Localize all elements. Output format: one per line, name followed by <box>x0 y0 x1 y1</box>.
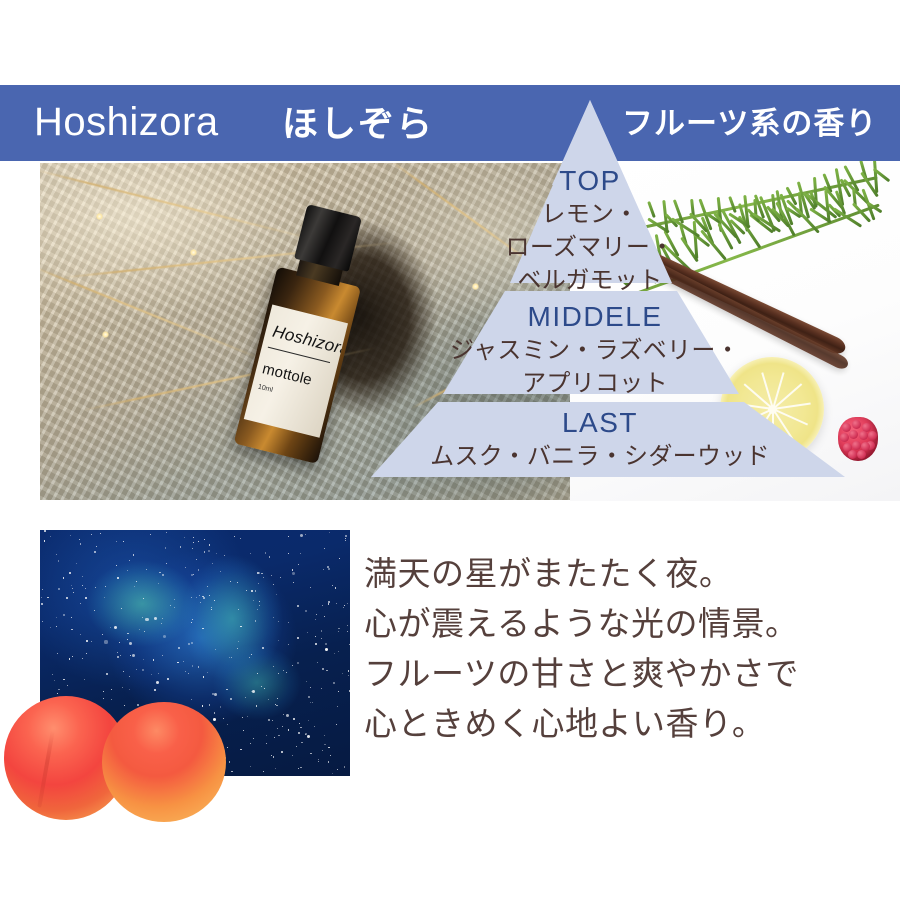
star <box>238 609 239 610</box>
star <box>106 673 108 675</box>
star <box>185 567 186 568</box>
tier-top-note: ベルガモット <box>430 264 750 297</box>
star <box>321 638 322 639</box>
star <box>136 581 137 582</box>
star <box>153 659 154 660</box>
star <box>123 671 124 672</box>
star <box>209 544 210 545</box>
star <box>332 585 333 586</box>
star <box>54 680 55 681</box>
star <box>180 546 181 547</box>
star <box>308 720 309 721</box>
star <box>220 571 221 572</box>
star <box>69 658 70 659</box>
star <box>250 743 251 744</box>
apricot-photo <box>4 690 228 822</box>
star <box>288 553 289 554</box>
raspberry-drupelet <box>840 433 849 442</box>
star <box>82 585 83 586</box>
star <box>300 767 301 768</box>
star <box>345 535 347 537</box>
star <box>339 558 340 559</box>
star <box>280 577 281 578</box>
product-page: Hoshizora mottole 10ml <box>0 0 900 900</box>
star <box>132 654 135 657</box>
star <box>292 755 293 756</box>
star <box>161 623 162 624</box>
star <box>283 714 284 715</box>
star <box>329 532 330 533</box>
star <box>348 670 349 671</box>
star <box>102 634 103 635</box>
star <box>96 546 97 547</box>
star <box>114 626 117 629</box>
star <box>56 626 57 627</box>
tier-last-note: ムスク・バニラ・シダーウッド <box>380 440 820 473</box>
star <box>231 657 232 658</box>
raspberry-drupelet <box>848 450 857 459</box>
star <box>156 681 159 684</box>
star <box>259 605 260 606</box>
fairy-light-bulb <box>190 249 197 256</box>
star <box>324 616 325 617</box>
star <box>192 548 193 549</box>
star <box>259 572 260 573</box>
star <box>144 631 145 632</box>
raspberry-drupelet <box>852 420 861 429</box>
star <box>263 577 264 578</box>
star <box>308 696 310 698</box>
star <box>66 597 68 599</box>
star <box>80 543 81 544</box>
star <box>347 631 348 632</box>
star <box>120 655 121 656</box>
star <box>288 622 289 623</box>
star <box>249 657 250 658</box>
star <box>42 621 43 622</box>
star <box>129 676 130 677</box>
star <box>300 727 301 728</box>
star <box>288 644 289 645</box>
star <box>44 530 46 532</box>
star <box>85 597 87 599</box>
raspberry-drupelet <box>849 430 858 439</box>
star <box>41 603 43 605</box>
star <box>70 535 71 536</box>
star <box>215 649 216 650</box>
star <box>198 666 199 667</box>
star <box>316 614 317 615</box>
raspberry-drupelet <box>859 431 868 440</box>
star <box>203 676 204 677</box>
star <box>204 539 205 540</box>
star <box>338 691 339 692</box>
star <box>174 607 175 608</box>
star <box>82 658 83 659</box>
star <box>305 610 307 612</box>
star <box>347 625 348 626</box>
star <box>208 550 210 552</box>
star <box>162 655 163 656</box>
tier-top-note: レモン・ <box>430 198 750 231</box>
star <box>264 688 265 689</box>
star <box>251 691 252 692</box>
star <box>211 609 212 610</box>
star <box>336 724 337 725</box>
star <box>318 761 319 762</box>
star <box>278 673 279 674</box>
star <box>56 617 57 618</box>
pyramid-tier-top: TOP レモン・ ローズマリー・ ベルガモット <box>430 164 750 297</box>
star <box>297 637 299 639</box>
star <box>312 702 313 703</box>
star <box>117 656 119 658</box>
star <box>282 726 283 727</box>
star <box>321 688 322 689</box>
star <box>196 559 197 560</box>
star <box>63 679 64 680</box>
star <box>47 597 48 598</box>
star <box>281 751 283 753</box>
star <box>209 595 210 596</box>
star <box>324 735 325 736</box>
fairy-light-bulb <box>102 331 109 338</box>
star <box>127 633 128 634</box>
star <box>127 570 128 571</box>
star <box>328 603 329 604</box>
star <box>196 597 197 598</box>
description-line: 心ときめく心地よい香り。 <box>364 699 834 749</box>
star <box>240 626 241 627</box>
star <box>307 735 310 738</box>
star <box>278 621 279 622</box>
star <box>261 686 262 687</box>
star <box>123 541 124 542</box>
star <box>330 755 331 756</box>
scent-category-label: フルーツ系の香り <box>622 98 877 150</box>
star <box>338 651 339 652</box>
star <box>349 644 350 645</box>
star <box>154 617 157 620</box>
star <box>150 534 151 535</box>
star <box>246 590 247 591</box>
raspberry-drupelet <box>857 450 866 459</box>
star <box>230 581 231 582</box>
star <box>271 575 272 576</box>
star <box>207 586 208 587</box>
star <box>198 541 199 542</box>
star <box>268 699 269 700</box>
star <box>80 634 81 635</box>
star <box>292 665 293 666</box>
star <box>273 617 274 618</box>
star <box>273 756 274 757</box>
star <box>337 769 338 770</box>
star <box>104 640 107 643</box>
star <box>288 536 289 537</box>
star <box>326 670 327 671</box>
tier-middle-note: ジャスミン・ラズベリー・ <box>395 334 795 367</box>
star <box>301 742 302 743</box>
star <box>202 628 203 629</box>
star <box>188 673 189 674</box>
star <box>193 542 194 543</box>
star <box>116 541 117 542</box>
star <box>94 551 96 553</box>
star <box>129 642 132 645</box>
star <box>324 548 325 549</box>
star <box>91 534 92 535</box>
star <box>177 662 178 663</box>
star <box>121 608 122 609</box>
star <box>247 716 248 717</box>
star <box>240 538 241 539</box>
star <box>250 766 251 767</box>
star <box>129 560 130 561</box>
star <box>183 661 184 662</box>
star <box>130 655 131 656</box>
star <box>286 672 287 673</box>
star <box>277 698 278 699</box>
star <box>79 539 80 540</box>
star <box>56 554 57 555</box>
star <box>198 569 199 570</box>
star <box>251 654 252 655</box>
tier-last-title: LAST <box>380 406 820 440</box>
star <box>240 749 241 750</box>
star <box>278 640 279 641</box>
star <box>117 652 118 653</box>
star <box>344 605 345 606</box>
star <box>337 706 338 707</box>
star <box>44 540 45 541</box>
star <box>315 636 316 637</box>
star <box>224 555 225 556</box>
star <box>274 737 275 738</box>
star <box>324 744 325 745</box>
star <box>165 547 166 548</box>
star <box>296 746 297 747</box>
star <box>158 583 159 584</box>
fairy-light-bulb <box>96 213 103 220</box>
star <box>229 761 230 762</box>
star <box>82 576 83 577</box>
star <box>204 551 205 552</box>
star <box>298 768 299 769</box>
bottle-label-brand: Hoshizora <box>270 322 348 361</box>
star <box>292 569 293 570</box>
star <box>100 533 101 534</box>
star <box>192 665 193 666</box>
star <box>116 565 117 566</box>
star <box>105 586 106 587</box>
star <box>191 642 193 644</box>
star <box>328 747 329 748</box>
star <box>317 662 318 663</box>
star <box>50 536 51 537</box>
star <box>67 685 68 686</box>
star <box>269 556 270 557</box>
star <box>229 657 230 658</box>
description-line: 満天の星がまたたく夜。 <box>364 549 834 599</box>
star <box>85 588 86 589</box>
star <box>293 582 294 583</box>
star <box>255 620 256 621</box>
star <box>275 768 276 769</box>
star <box>71 617 72 618</box>
star <box>94 610 95 611</box>
star <box>315 619 316 620</box>
star <box>216 553 217 554</box>
star <box>142 669 144 671</box>
star <box>237 648 238 649</box>
description-line: フルーツの甘さと爽やかさで <box>364 649 834 699</box>
pyramid-tier-middle: MIDDELE ジャスミン・ラズベリー・ アプリコット <box>395 300 795 400</box>
bottle-label-volume: 10ml <box>257 384 273 394</box>
star <box>336 603 337 604</box>
star <box>328 568 330 570</box>
star <box>323 569 324 570</box>
star <box>214 600 215 601</box>
star <box>42 589 43 590</box>
star <box>306 681 307 682</box>
star <box>145 618 148 621</box>
star <box>58 560 59 561</box>
star <box>146 569 147 570</box>
star <box>143 659 144 660</box>
star <box>242 717 243 718</box>
star <box>276 705 277 706</box>
star <box>338 628 339 629</box>
star <box>349 690 350 691</box>
star <box>230 698 232 700</box>
star <box>328 761 329 762</box>
star <box>243 730 244 731</box>
star <box>193 537 194 538</box>
star <box>300 534 303 537</box>
star <box>203 597 205 599</box>
star <box>71 585 72 586</box>
star <box>298 564 299 565</box>
star <box>158 673 159 674</box>
star <box>162 618 163 619</box>
star <box>276 594 277 595</box>
star <box>334 653 335 654</box>
star <box>167 678 169 680</box>
star <box>142 617 143 618</box>
star <box>322 605 323 606</box>
star <box>188 643 190 645</box>
star <box>348 675 349 676</box>
star <box>265 552 266 553</box>
star <box>266 735 267 736</box>
star <box>344 766 345 767</box>
star <box>151 674 152 675</box>
star <box>185 671 186 672</box>
star <box>166 532 167 533</box>
star <box>91 641 92 642</box>
star <box>133 554 134 555</box>
star <box>95 587 96 588</box>
star <box>41 597 42 598</box>
star <box>262 647 264 649</box>
tier-middle-title: MIDDELE <box>395 300 795 334</box>
star <box>86 653 87 654</box>
star <box>286 714 289 717</box>
star <box>104 597 105 598</box>
star <box>170 605 171 606</box>
tier-middle-note: アプリコット <box>395 367 795 400</box>
apricot-crease <box>37 730 54 808</box>
star <box>134 586 135 587</box>
bottle-label-maker: mottole <box>260 360 313 389</box>
star <box>253 600 254 601</box>
star <box>251 590 253 592</box>
star <box>310 753 311 754</box>
star <box>71 629 72 630</box>
star <box>69 572 71 574</box>
star <box>110 627 111 628</box>
star <box>314 726 315 727</box>
star <box>192 619 193 620</box>
star <box>258 583 259 584</box>
star <box>162 574 164 576</box>
star <box>84 679 85 680</box>
star <box>315 643 317 645</box>
brand-name-en: Hoshizora <box>34 92 219 152</box>
star <box>305 534 306 535</box>
star <box>202 596 203 597</box>
star <box>332 773 333 774</box>
star <box>252 690 255 693</box>
star <box>237 582 238 583</box>
star <box>73 592 74 593</box>
star <box>178 647 180 649</box>
star <box>307 632 308 633</box>
raspberry-drupelet <box>868 431 877 440</box>
description-line: 心が震えるような光の情景。 <box>364 599 834 649</box>
star <box>343 607 344 608</box>
star <box>63 577 64 578</box>
star <box>333 682 335 684</box>
star <box>159 572 160 573</box>
star <box>325 648 328 651</box>
star <box>119 642 120 643</box>
star <box>212 563 213 564</box>
tier-top-title: TOP <box>430 164 750 198</box>
star <box>345 540 346 541</box>
pyramid-tier-last: LAST ムスク・バニラ・シダーウッド <box>380 406 820 473</box>
star <box>136 669 137 670</box>
star <box>238 641 239 642</box>
star <box>293 718 295 720</box>
star <box>52 674 53 675</box>
star <box>76 563 77 564</box>
star <box>127 639 128 640</box>
star <box>298 732 300 734</box>
star <box>184 537 185 538</box>
star <box>299 723 300 724</box>
star <box>297 662 299 664</box>
star <box>273 584 274 585</box>
star <box>117 577 119 579</box>
star <box>259 601 260 602</box>
star <box>310 687 311 688</box>
star <box>231 771 232 772</box>
star <box>300 553 301 554</box>
star <box>72 588 73 589</box>
star <box>321 630 322 631</box>
